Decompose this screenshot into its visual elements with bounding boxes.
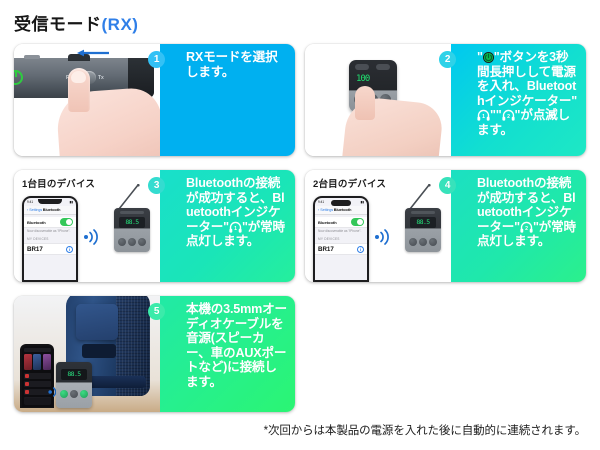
bluetooth-label: Bluetooth (318, 220, 337, 225)
info-icon[interactable]: i (357, 246, 364, 253)
switch-label-tx: Tx (98, 75, 104, 81)
phone-status-bar: 9:41 ▮▮ (27, 199, 73, 205)
step-number-badge-2: 2 (439, 51, 456, 68)
status-time: 9:41 (27, 200, 33, 204)
speaker-ports (82, 344, 116, 358)
phone-screen: 9:41 ▮▮ ‹ Settings Bluetooth Bluetooth N… (24, 198, 76, 280)
device-order-label-1: 1台目のデバイス (22, 176, 95, 190)
device-order-label-2: 2台目のデバイス (313, 176, 386, 190)
step-number-badge-3: 3 (148, 177, 165, 194)
device-button-left (355, 64, 369, 70)
device-name: BR17 (318, 246, 334, 253)
track-item (24, 373, 51, 379)
device-button-1 (60, 390, 68, 398)
device-button-3 (80, 390, 88, 398)
info-icon[interactable]: i (66, 246, 73, 253)
headphone-indicator-2-icon: 2 (502, 109, 515, 121)
headphone-indicator-2-icon: 2 (520, 221, 533, 233)
footer-note: *次回からは本製品の電源を入れた後に自動的に連続されます。 (264, 422, 586, 438)
phone-mockup: 9:41 ▮▮ ‹ Settings Bluetooth Bluetooth N… (22, 196, 78, 282)
svg-text:2: 2 (507, 114, 510, 120)
page-title: 受信モード(RX) (14, 10, 138, 35)
device-nub (24, 55, 40, 59)
bluetooth-toggle-row[interactable]: Bluetooth (315, 217, 367, 228)
device-display: 100 (356, 73, 390, 86)
step-number-badge-1: 1 (148, 51, 165, 68)
step-2-text-panel: 2 ""ボタンを3秒間長押しして電源を入れ、Bluetoothインジケーター"1… (451, 44, 586, 156)
bluetooth-toggle[interactable] (351, 218, 364, 226)
back-button[interactable]: ‹ Settings (27, 208, 42, 212)
headphone-indicator-1-icon: 1 (229, 221, 242, 233)
step-1-illustration: Rx Tx (14, 44, 160, 156)
status-indicators: ▮▮ (360, 200, 364, 204)
radio-display: 88.5 (410, 217, 436, 228)
svg-text:1: 1 (234, 226, 237, 232)
step-5-instruction: 本機の3.5mmオーディオケーブルを音源(スピーカー、車のAUXポートなど)に接… (186, 302, 287, 389)
phone-screen: 9:41 ▮▮ ‹ Settings Bluetooth Bluetooth N… (315, 198, 367, 280)
step-3-text-panel: 3 Bluetoothの接続が成功すると、Bluetoothインジケーター"1"… (160, 170, 295, 282)
power-icon (14, 70, 23, 85)
speaker-port-flap (76, 304, 118, 340)
step-5-illustration: 88.5 (14, 296, 160, 412)
back-button[interactable]: ‹ Settings (318, 208, 333, 212)
step-2-instruction-part3: "" (490, 108, 502, 122)
antenna-icon (409, 184, 431, 210)
bluetooth-label: Bluetooth (27, 220, 46, 225)
bluetooth-toggle-row[interactable]: Bluetooth (24, 217, 76, 228)
radio-display: 88.5 (119, 217, 145, 228)
radio-receiver-image: 88.5 (114, 208, 150, 252)
svg-text:2: 2 (525, 226, 528, 232)
finger-image (355, 86, 375, 120)
track-item (24, 381, 51, 387)
track-item (24, 389, 51, 395)
music-tab-bar (24, 398, 51, 405)
radio-button-2 (419, 238, 427, 246)
step-panel-2: 100 2 ""ボタンを3秒間長押しして電源を入れ、Bluetoothインジケー… (305, 44, 586, 156)
step-panel-4: 2台目のデバイス 9:41 ▮▮ ‹ Settings Bluetooth Bl… (305, 170, 586, 282)
step-4-text-panel: 4 Bluetoothの接続が成功すると、Bluetoothインジケーター"2"… (451, 170, 586, 282)
step-3-illustration: 1台目のデバイス 9:41 ▮▮ ‹ Settings Bluetooth Bl… (14, 170, 160, 282)
status-indicators: ▮▮ (69, 200, 73, 204)
album-art-3 (43, 354, 51, 370)
phone-nav-bar: ‹ Settings Bluetooth (315, 206, 367, 215)
music-app-header (24, 348, 51, 352)
device-display: 88.5 (61, 369, 87, 380)
bluetooth-toggle[interactable] (60, 218, 73, 226)
arrow-left-icon (76, 49, 110, 57)
device-list-item[interactable]: BR17 i (24, 243, 76, 255)
phone-status-bar: 9:41 ▮▮ (318, 199, 364, 205)
radio-top-bar (120, 211, 144, 214)
status-time: 9:41 (318, 200, 324, 204)
power-button-icon (483, 52, 494, 63)
receiver-device-image: 88.5 (56, 362, 92, 408)
antenna-icon (118, 184, 140, 210)
step-5-text-panel: 5 本機の3.5mmオーディオケーブルを音源(スピーカー、車のAUXポートなど)… (160, 296, 295, 412)
radio-button-3 (429, 238, 437, 246)
page-title-suffix: (RX) (102, 15, 139, 34)
radio-receiver-image: 88.5 (405, 208, 441, 252)
nav-title: Bluetooth (43, 208, 61, 212)
svg-text:1: 1 (482, 114, 485, 120)
bluetooth-wave-icon (375, 228, 391, 246)
album-art-2 (33, 354, 41, 370)
discoverable-note: Now discoverable as "iPhone". (318, 229, 361, 233)
album-art-row (24, 354, 51, 370)
step-1-instruction: RXモードを選択します。 (186, 50, 277, 79)
device-button-right (376, 64, 390, 70)
device-button-2 (70, 390, 78, 398)
radio-button-2 (128, 238, 136, 246)
album-art-1 (24, 354, 32, 370)
step-2-illustration: 100 (305, 44, 451, 156)
radio-button-3 (138, 238, 146, 246)
page-title-main: 受信モード (14, 15, 102, 34)
radio-button-1 (409, 238, 417, 246)
device-name: BR17 (27, 246, 43, 253)
bluetooth-wave-icon (84, 228, 100, 246)
step-4-illustration: 2台目のデバイス 9:41 ▮▮ ‹ Settings Bluetooth Bl… (305, 170, 451, 282)
step-1-text-panel: 1 RXモードを選択します。 (160, 44, 295, 156)
fingernail-image (71, 71, 86, 83)
step-panel-5: 88.5 5 本機の3.5mmオーディオケーブルを音源(スピーカー、車のAUXポ… (14, 296, 295, 412)
my-devices-header: MY DEVICES (27, 237, 49, 241)
device-list-item[interactable]: BR17 i (315, 243, 367, 255)
step-number-badge-4: 4 (439, 177, 456, 194)
headphone-indicator-1-icon: 1 (477, 109, 490, 121)
my-devices-header: MY DEVICES (318, 237, 340, 241)
radio-button-1 (118, 238, 126, 246)
step-panel-3: 1台目のデバイス 9:41 ▮▮ ‹ Settings Bluetooth Bl… (14, 170, 295, 282)
step-panel-1: Rx Tx 1 RXモードを選択します。 (14, 44, 295, 156)
step-number-badge-5: 5 (148, 303, 165, 320)
nav-title: Bluetooth (334, 208, 352, 212)
discoverable-note: Now discoverable as "iPhone". (27, 229, 70, 233)
phone-mockup: 9:41 ▮▮ ‹ Settings Bluetooth Bluetooth N… (313, 196, 369, 282)
phone-nav-bar: ‹ Settings Bluetooth (24, 206, 76, 215)
radio-top-bar (411, 211, 435, 214)
